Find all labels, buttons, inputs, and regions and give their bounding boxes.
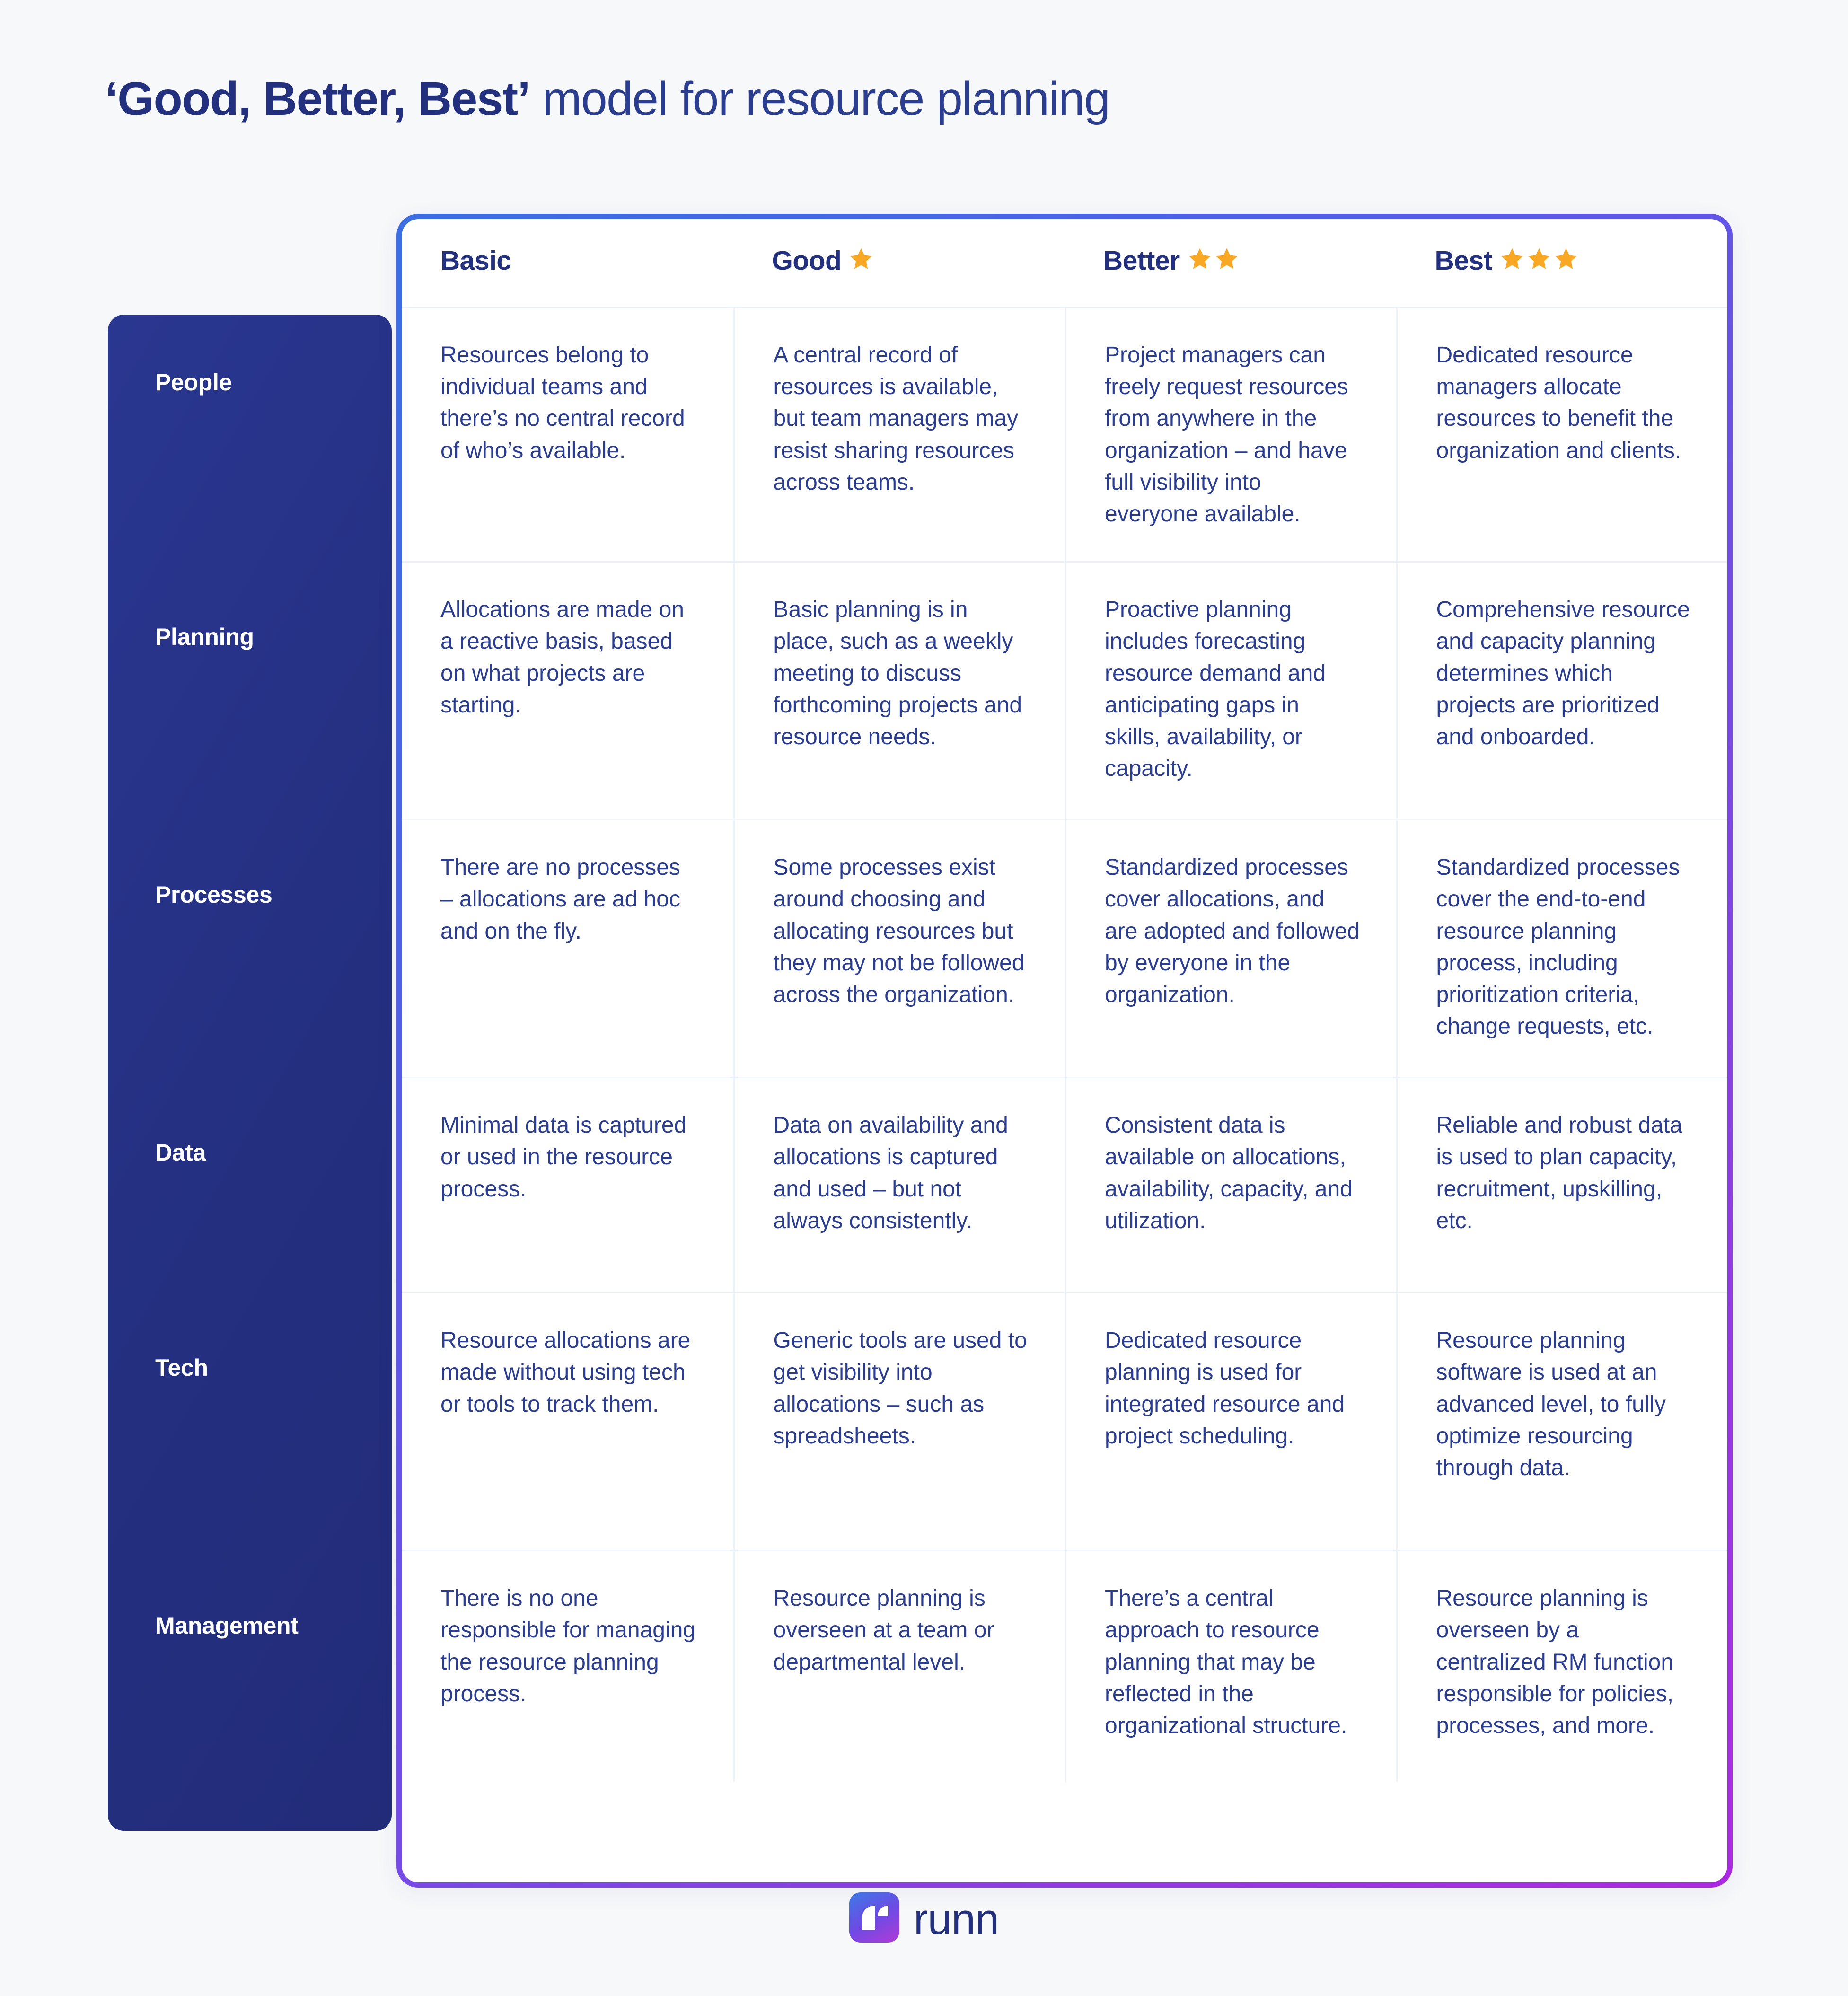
infographic-page: ‘Good, Better, Best’ model for resource … — [0, 0, 1848, 1996]
star-rating-better — [1188, 246, 1239, 271]
page-title-light: model for resource planning — [530, 72, 1109, 125]
cell-processes-good: Some processes exist around choosing and… — [733, 819, 1065, 1077]
cell-management-basic: There is no one responsible for managing… — [402, 1550, 733, 1782]
cell-tech-better: Dedicated resource planning is used for … — [1065, 1292, 1396, 1550]
cell-people-basic: Resources belong to individual teams and… — [402, 307, 733, 561]
footer-brand: runn — [0, 1892, 1848, 1943]
star-rating-best — [1500, 246, 1578, 271]
page-title: ‘Good, Better, Best’ model for resource … — [105, 71, 1761, 127]
cell-processes-best: Standardized processes cover the end-to-… — [1396, 819, 1728, 1077]
cell-planning-better: Proactive planning includes forecasting … — [1065, 561, 1396, 819]
column-header-label: Basic — [440, 247, 511, 274]
comparison-body: Resources belong to individual teams and… — [402, 307, 1727, 1882]
cell-tech-good: Generic tools are used to get visibility… — [733, 1292, 1065, 1550]
comparison-table-card: Basic Good Better Best Resources belong … — [396, 214, 1733, 1888]
star-rating-good — [849, 246, 873, 271]
cell-planning-best: Comprehensive resource and capacity plan… — [1396, 561, 1728, 819]
comparison-grid: Basic Good Better Best Resources belong … — [402, 219, 1727, 1882]
cell-data-best: Reliable and robust data is used to plan… — [1396, 1077, 1728, 1292]
cell-processes-basic: There are no processes – allocations are… — [402, 819, 733, 1077]
cell-processes-better: Standardized processes cover allocations… — [1065, 819, 1396, 1077]
runn-wordmark: runn — [914, 1898, 999, 1941]
column-header-good: Good — [733, 219, 1065, 307]
column-header-better: Better — [1065, 219, 1396, 307]
cell-tech-basic: Resource allocations are made without us… — [402, 1292, 733, 1550]
cell-people-good: A central record of resources is availab… — [733, 307, 1065, 561]
column-header-basic: Basic — [402, 219, 733, 307]
column-header-best: Best — [1396, 219, 1728, 307]
column-header-label: Good — [772, 247, 842, 274]
cell-people-best: Dedicated resource managers allocate res… — [1396, 307, 1728, 561]
row-label-panel — [108, 315, 392, 1831]
cell-management-better: There’s a central approach to resource p… — [1065, 1550, 1396, 1782]
cell-planning-basic: Allocations are made on a reactive basis… — [402, 561, 733, 819]
column-header-label: Better — [1103, 247, 1180, 274]
cell-tech-best: Resource planning software is used at an… — [1396, 1292, 1728, 1550]
runn-logo-icon — [849, 1892, 899, 1943]
cell-data-better: Consistent data is available on allocati… — [1065, 1077, 1396, 1292]
page-title-strong: ‘Good, Better, Best’ — [105, 72, 530, 125]
cell-management-good: Resource planning is overseen at a team … — [733, 1550, 1065, 1782]
cell-data-good: Data on availability and allocations is … — [733, 1077, 1065, 1292]
cell-planning-good: Basic planning is in place, such as a we… — [733, 561, 1065, 819]
column-header-label: Best — [1435, 247, 1493, 274]
cell-data-basic: Minimal data is captured or used in the … — [402, 1077, 733, 1292]
cell-people-better: Project managers can freely request reso… — [1065, 307, 1396, 561]
cell-management-best: Resource planning is overseen by a centr… — [1396, 1550, 1728, 1782]
